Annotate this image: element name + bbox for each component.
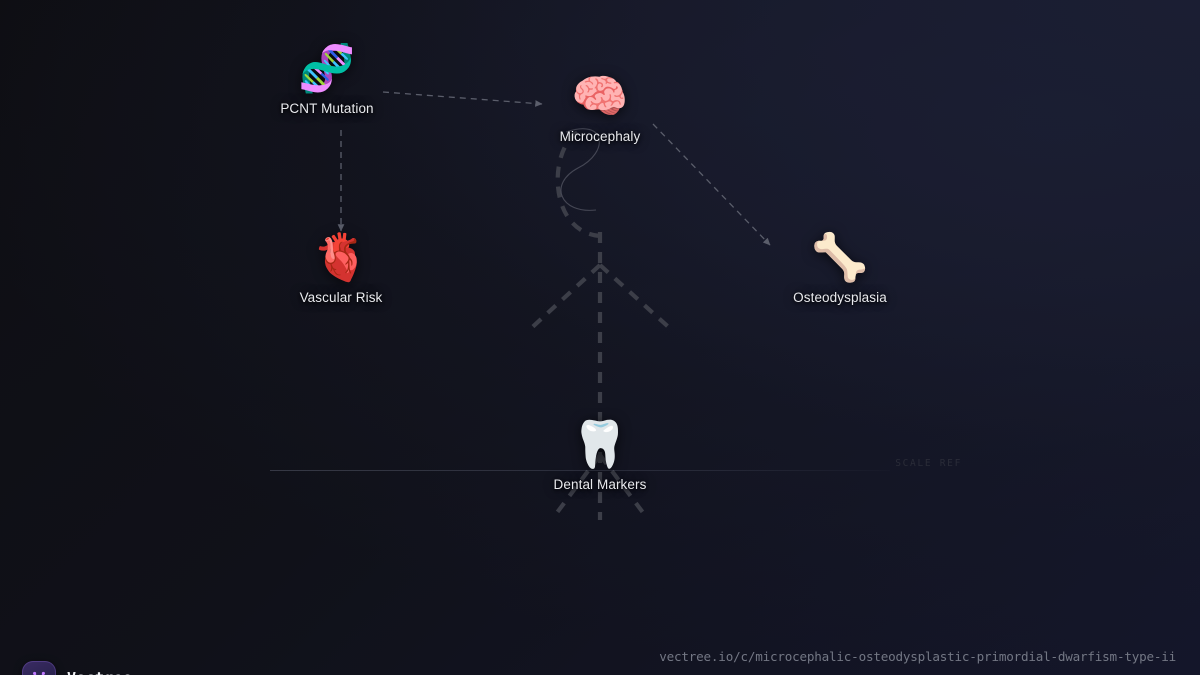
caption-block: Vectree microcephalic osteodysplastic pr… — [0, 661, 1200, 675]
slide-canvas: 🧬 PCNT Mutation 🧠 Microcephaly 🫀 Vascula… — [0, 0, 1200, 675]
brain-icon: 🧠 — [571, 70, 628, 122]
brand-lockup[interactable]: Vectree — [22, 661, 132, 675]
dna-icon: 🧬 — [298, 42, 355, 94]
graph-node-label: Microcephaly — [560, 129, 641, 144]
bone-icon: 🦴 — [811, 231, 868, 283]
graph-node-osteodysplasia[interactable]: 🦴 Osteodysplasia — [745, 231, 935, 305]
graph-node-label: Osteodysplasia — [793, 290, 887, 305]
brand-name: Vectree — [67, 669, 132, 675]
scale-reference: SCALE REF — [270, 462, 962, 480]
graph-node-label: PCNT Mutation — [280, 101, 373, 116]
vectree-tree-glyph-icon — [22, 661, 56, 675]
source-url[interactable]: vectree.io/c/microcephalic-osteodysplast… — [659, 649, 1176, 664]
graph-node-label: Vascular Risk — [300, 290, 383, 305]
graph-node-dental-markers[interactable]: 🦷 Dental Markers — [505, 418, 695, 492]
graph-node-pcnt-mutation[interactable]: 🧬 PCNT Mutation — [232, 42, 422, 116]
graph-node-microcephaly[interactable]: 🧠 Microcephaly — [505, 70, 695, 144]
scale-reference-label: SCALE REF — [895, 458, 962, 469]
heart-icon: 🫀 — [312, 231, 369, 283]
graph-node-vascular-risk[interactable]: 🫀 Vascular Risk — [246, 231, 436, 305]
scale-reference-line — [270, 470, 890, 471]
